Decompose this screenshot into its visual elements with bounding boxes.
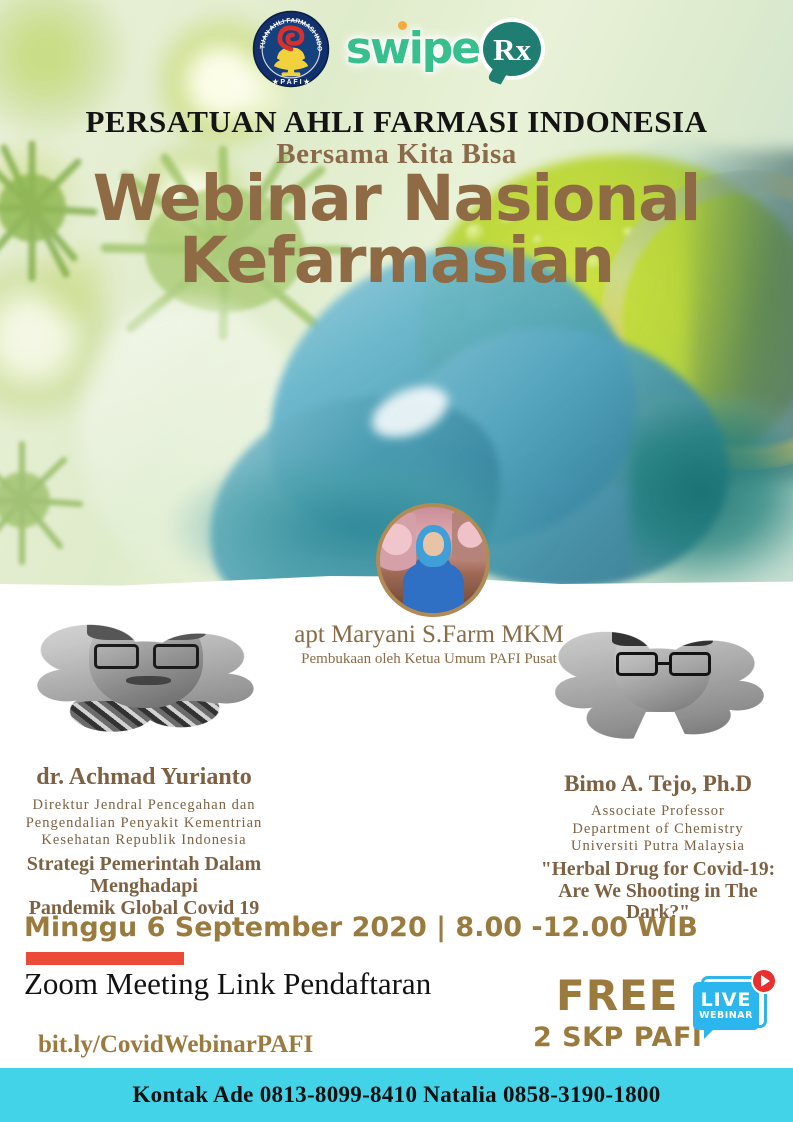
organization-title: PERSATUAN AHLI FARMASI INDONESIA bbox=[0, 104, 793, 140]
portrait-collar bbox=[601, 712, 720, 764]
skp-credits-label: 2 SKP PAFI bbox=[533, 1022, 702, 1053]
pafi-logo-icon: ★ P A F I ★ PERSATUAN AHLI FARMASI INDON… bbox=[252, 10, 330, 88]
main-title: Webinar Nasional Kefarmasian bbox=[0, 168, 793, 291]
glasses-bridge-icon bbox=[658, 662, 671, 665]
live-webinar-badge-icon: LIVE WEBINAR bbox=[693, 972, 775, 1046]
avatar bbox=[376, 503, 490, 617]
brush-mask bbox=[30, 592, 259, 753]
webinar-poster: ★ P A F I ★ PERSATUAN AHLI FARMASI INDON… bbox=[0, 0, 793, 1122]
contact-footer: Kontak Ade 0813-8099-8410 Natalia 0858-3… bbox=[0, 1068, 793, 1122]
svg-text:★ P A F I ★: ★ P A F I ★ bbox=[272, 78, 310, 86]
teal-swirl-graphic bbox=[150, 440, 570, 600]
brush-mask bbox=[548, 599, 768, 760]
glasses-icon bbox=[616, 652, 658, 676]
speaker-portrait bbox=[380, 507, 486, 613]
play-button-icon bbox=[751, 968, 777, 994]
live-badge-line2: WEBINAR bbox=[699, 1010, 753, 1021]
rx-bubble-icon: Rx bbox=[483, 22, 541, 76]
contact-text: Kontak Ade 0813-8099-8410 Natalia 0858-3… bbox=[132, 1082, 660, 1108]
portrait-hair bbox=[87, 602, 206, 641]
glasses-icon bbox=[94, 644, 140, 670]
portrait-mustache bbox=[126, 676, 172, 686]
main-title-line2: Kefarmasian bbox=[0, 230, 793, 292]
speaker-left: dr. Achmad Yurianto Direktur Jendral Pen… bbox=[14, 585, 274, 919]
event-datetime: Minggu 6 September 2020 | 8.00 -12.00 WI… bbox=[24, 912, 698, 943]
speaker-photo bbox=[533, 592, 783, 767]
glasses-icon bbox=[153, 644, 199, 670]
swiperx-logo: swipe Rx bbox=[346, 22, 541, 76]
speaker-affiliation: Associate Professor Department of Chemis… bbox=[533, 803, 783, 856]
speaker-name: dr. Achmad Yurianto bbox=[14, 764, 274, 791]
speaker-portrait bbox=[548, 599, 768, 760]
portrait-clothing bbox=[62, 701, 227, 756]
portrait-body bbox=[403, 562, 463, 615]
registration-link[interactable]: bit.ly/CovidWebinarPAFI bbox=[38, 1031, 313, 1059]
glasses-icon bbox=[669, 652, 711, 676]
portrait-face bbox=[423, 532, 443, 555]
rx-label: Rx bbox=[493, 34, 531, 65]
speaker-topic: Strategi Pemerintah Dalam Menghadapi Pan… bbox=[14, 853, 274, 919]
swipe-dot-icon bbox=[398, 21, 407, 30]
swipe-wordmark: swipe bbox=[346, 27, 479, 71]
speaker-portrait bbox=[30, 592, 259, 753]
teal-swirl-graphic bbox=[630, 395, 793, 600]
live-badge-line1: LIVE bbox=[701, 991, 752, 1010]
speaker-right: Bimo A. Tejo, Ph.D Associate Professor D… bbox=[533, 592, 783, 923]
free-label: FREE bbox=[556, 971, 678, 1020]
registration-heading: Zoom Meeting Link Pendaftaran bbox=[24, 966, 431, 1002]
speaker-photo bbox=[14, 585, 274, 760]
background-blossom bbox=[452, 511, 486, 569]
logo-row: ★ P A F I ★ PERSATUAN AHLI FARMASI INDON… bbox=[0, 6, 793, 92]
portrait-hair bbox=[612, 610, 713, 645]
speaker-affiliation: Direktur Jendral Pencegahan dan Pengenda… bbox=[14, 797, 274, 850]
speaker-name: Bimo A. Tejo, Ph.D bbox=[533, 771, 783, 797]
accent-bar bbox=[26, 952, 184, 965]
badge-bubble: LIVE WEBINAR bbox=[693, 982, 759, 1030]
coronavirus-spike-icon bbox=[0, 430, 92, 570]
center-speaker: apt Maryani S.Farm MKM Pembukaan oleh Ke… bbox=[376, 503, 482, 617]
